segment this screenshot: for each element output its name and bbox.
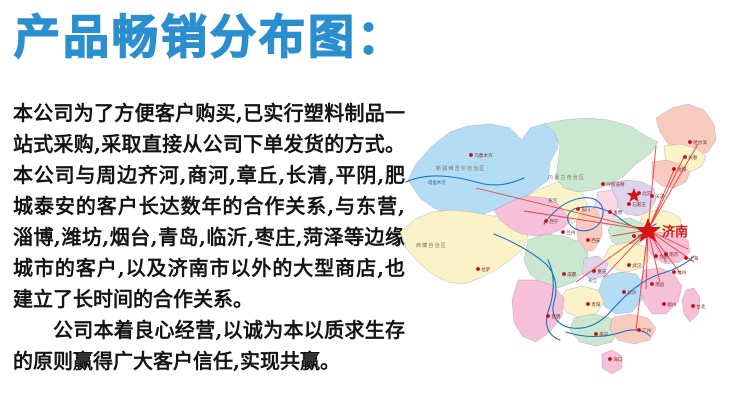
city-label: 长春 (688, 154, 698, 161)
river-label: 长江 (588, 277, 597, 284)
city-label: 天津 (655, 193, 665, 200)
description-paragraph-1: 本公司为了方便客户购买,已实行塑料制品一站式采购,采取直接从公司下单发货的方式。… (13, 98, 405, 315)
city-dot (594, 332, 598, 336)
city-dot (562, 272, 566, 276)
page-title: 产品畅销分布图： (14, 14, 406, 60)
city-label: 贵阳 (591, 301, 601, 308)
city-label: 石家庄 (632, 201, 646, 208)
city-dot (586, 238, 590, 242)
city-dot (672, 167, 676, 171)
description-text-block: 本公司为了方便客户购买,已实行塑料制品一站式采购,采取直接从公司下单发货的方式。… (13, 98, 405, 377)
city-dot (684, 256, 688, 260)
city-dot (683, 155, 687, 159)
city-label: 重庆 (597, 268, 607, 275)
city-dot (622, 290, 626, 294)
region-guizhou (560, 286, 604, 318)
city-dot (627, 202, 631, 206)
city-label: 西安 (591, 237, 601, 244)
city-dot (586, 302, 590, 306)
city-label: 昆明 (551, 314, 561, 320)
province-label: 新疆维吾尔自治区 (436, 165, 486, 172)
city-dot (691, 304, 695, 308)
china-distribution-map: 乌鲁木齐哈尔滨长春沈阳呼和浩特银川太原北京天津石家庄西宁兰州西安郑州拉萨成都武汉… (398, 84, 748, 384)
description-paragraph-2: 公司本着良心经营,以诚为本以质求生存的原则赢得广大客户信任,实现共赢。 (13, 315, 405, 377)
city-dot (601, 182, 605, 186)
region-hunan-jiangxi (598, 272, 644, 314)
city-label: 哈尔滨 (693, 139, 707, 146)
city-dot (672, 270, 676, 274)
city-dot (561, 230, 565, 234)
city-label: 武汉 (632, 262, 642, 269)
city-dot (637, 328, 641, 332)
map-svg: 乌鲁木齐哈尔滨长春沈阳呼和浩特银川太原北京天津石家庄西宁兰州西安郑州拉萨成都武汉… (398, 84, 748, 384)
hub-label-jinan: 济南 (662, 224, 688, 240)
city-label: 长沙 (627, 289, 637, 296)
city-label: 成都 (567, 271, 577, 278)
city-dot (608, 210, 612, 214)
city-dot (546, 314, 550, 318)
city-label: 南京 (669, 251, 679, 258)
city-label: 西宁 (549, 218, 559, 225)
province-label: 西藏自治区 (416, 242, 447, 249)
city-dot (576, 207, 580, 211)
city-label: 银川 (581, 206, 591, 213)
city-dot (476, 267, 480, 271)
city-label: 太原 (613, 209, 623, 216)
city-dot (627, 263, 631, 267)
city-label: 北京 (642, 190, 652, 197)
river-label: 黄河 (548, 197, 557, 204)
city-dot (662, 302, 666, 306)
city-label: 拉萨 (481, 266, 491, 273)
city-label: 南昌 (655, 281, 665, 288)
city-label: 上海 (689, 255, 699, 262)
city-dot (632, 234, 636, 238)
city-label: 沈阳 (677, 166, 687, 173)
city-label: 福州 (667, 301, 677, 308)
city-dot (688, 140, 692, 144)
city-label: 杭州 (677, 269, 687, 276)
river-label: 塔里木河 (428, 179, 446, 186)
city-label: 合肥 (659, 253, 669, 260)
city-dot (592, 269, 596, 273)
city-label: 广州 (642, 327, 652, 334)
city-label: 海口 (613, 356, 623, 363)
city-label: 兰州 (566, 229, 576, 236)
city-label: 呼和浩特 (606, 181, 625, 188)
city-dot (544, 219, 548, 223)
city-dot (650, 282, 654, 286)
city-dot (608, 357, 612, 361)
city-label: 乌鲁木齐 (474, 152, 493, 159)
province-label: 内蒙古自治区 (548, 174, 585, 181)
page-root: 产品畅销分布图： 本公司为了方便客户购买,已实行塑料制品一站式采购,采取直接从公… (0, 0, 750, 410)
city-dot (469, 153, 473, 157)
city-label: 南宁 (599, 331, 609, 338)
city-dot (654, 254, 658, 258)
city-label: 台北 (696, 303, 706, 310)
